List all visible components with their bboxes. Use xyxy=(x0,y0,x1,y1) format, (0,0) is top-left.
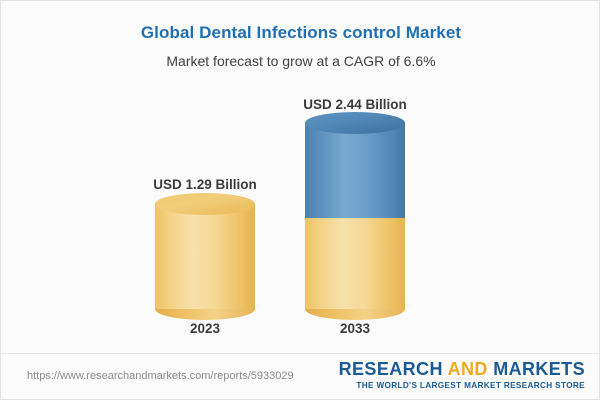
cylinder-body xyxy=(305,218,405,309)
cylinder-2023[interactable] xyxy=(155,204,255,309)
bar-value-label-2033: USD 2.44 Billion xyxy=(285,97,425,112)
bar-value-label-2023: USD 1.29 Billion xyxy=(135,177,275,192)
cylinder-segment-base-2033 xyxy=(305,218,405,309)
brand-word-markets: MARKETS xyxy=(493,359,585,379)
brand-word-and: AND xyxy=(448,359,494,379)
cylinder-2033[interactable] xyxy=(305,123,405,309)
cylinder-segment-base-2023 xyxy=(155,204,255,309)
cylinder-body xyxy=(155,204,255,309)
cylinder-top-ellipse xyxy=(155,193,255,215)
category-label-2033: 2033 xyxy=(285,321,425,336)
cylinder-top-ellipse xyxy=(305,112,405,134)
chart-card: Global Dental Infections control Market … xyxy=(0,0,600,400)
cylinder-body xyxy=(305,123,405,218)
chart-plot-area: USD 1.29 Billion 2023 USD 2.44 Billion xyxy=(1,1,600,353)
category-label-2023: 2023 xyxy=(135,321,275,336)
brand-word-research: RESEARCH xyxy=(339,359,448,379)
brand-tagline: THE WORLD'S LARGEST MARKET RESEARCH STOR… xyxy=(339,381,585,390)
brand-wordmark: RESEARCH AND MARKETS xyxy=(339,360,585,379)
cylinder-segment-growth-2033 xyxy=(305,123,405,218)
chart-footer: https://www.researchandmarkets.com/repor… xyxy=(1,354,600,400)
research-and-markets-logo[interactable]: RESEARCH AND MARKETS THE WORLD'S LARGEST… xyxy=(339,360,585,390)
source-url-link[interactable]: https://www.researchandmarkets.com/repor… xyxy=(27,370,294,382)
